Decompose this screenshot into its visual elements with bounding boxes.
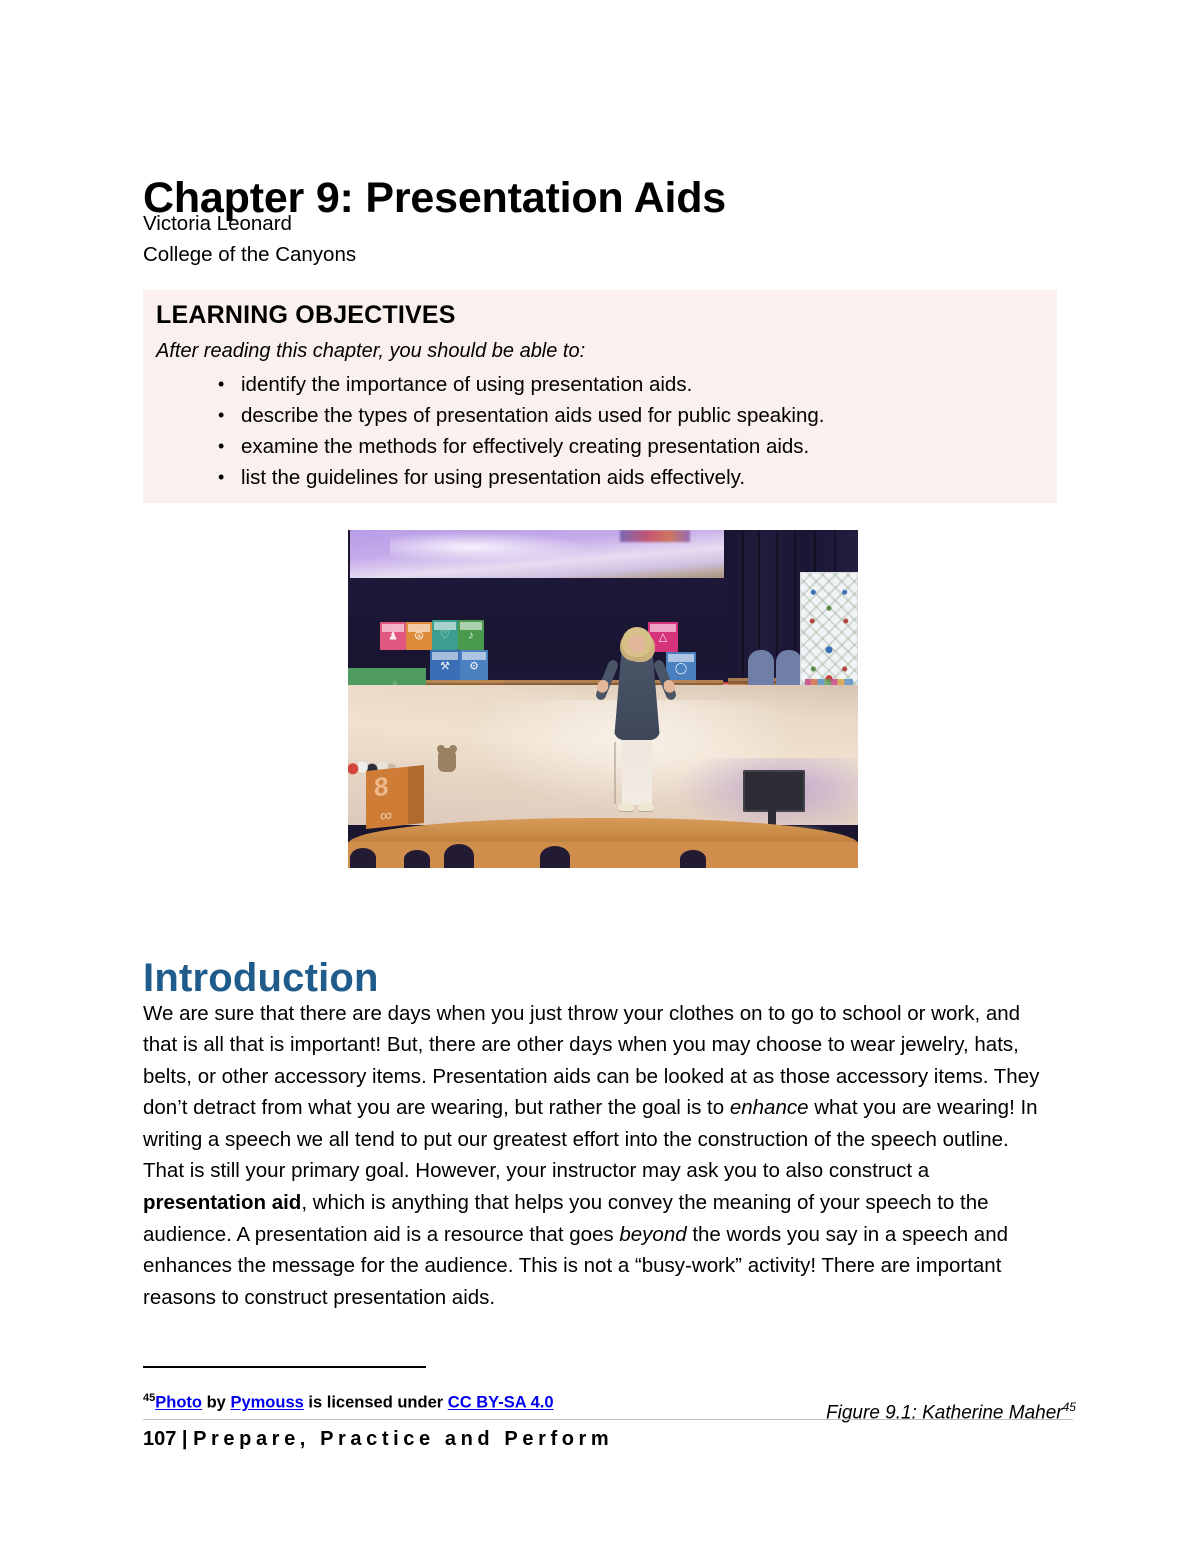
footnote-text-licensed: is licensed under [304, 1394, 448, 1412]
footnote-link-license[interactable]: CC BY-SA 4.0 [448, 1394, 554, 1412]
footer-separator [143, 1419, 1073, 1420]
list-item-label: identify the importance of using present… [241, 373, 692, 396]
bullet-icon: • [218, 400, 224, 431]
institution-name: College of the Canyons [143, 239, 356, 270]
bullet-icon: • [218, 462, 224, 493]
learning-objectives-list: • identify the importance of using prese… [156, 369, 824, 493]
figure-caption: Figure 9.1: Katherine Maher45 [696, 1400, 1200, 1424]
figure-caption-text: Figure 9.1: Katherine Maher [826, 1402, 1063, 1423]
figure-caption-superscript: 45 [1063, 1400, 1076, 1414]
sdg-cube-8: 8 ∞ [366, 765, 424, 829]
sdg-cube: ☮ [406, 622, 432, 650]
footnote-marker: 45 [143, 1392, 155, 1404]
sdg-cube: ♟ [380, 622, 406, 650]
audience-head [680, 850, 706, 868]
sdg-cube: ♪ [458, 620, 484, 650]
footer-book-title: Prepare, Practice and Perform [193, 1428, 613, 1450]
learning-objectives-box: LEARNING OBJECTIVES After reading this c… [143, 290, 1057, 503]
audience-head [350, 848, 376, 868]
figure-9-1: ♟ ☮ ♡ ♪ ⚒ ⚙ ⚆ ☀ ♂ △ ◯ ☸ ⚲ ☷ [348, 530, 858, 868]
introduction-paragraph: We are sure that there are days when you… [143, 998, 1048, 1314]
footer-separator-text: | [176, 1428, 193, 1450]
chair [776, 650, 802, 688]
footnote: 45Photo by Pymouss is licensed under CC … [143, 1387, 554, 1414]
learning-objectives-heading: LEARNING OBJECTIVES [156, 301, 456, 330]
stage-monitor [743, 770, 805, 812]
emphasis-italic: enhance [730, 1096, 809, 1119]
sdg-cube: ♡ [432, 620, 458, 650]
stage-presentation-photo: ♟ ☮ ♡ ♪ ⚒ ⚙ ⚆ ☀ ♂ △ ◯ ☸ ⚲ ☷ [348, 530, 858, 868]
speaker-figure [600, 627, 672, 827]
list-item: • examine the methods for effectively cr… [156, 431, 824, 462]
audience-head [404, 850, 430, 868]
sdg-cube: ⚙ [460, 650, 488, 682]
audience-head [444, 844, 474, 868]
list-item: • list the guidelines for using presenta… [156, 462, 824, 493]
footnote-link-author[interactable]: Pymouss [230, 1394, 303, 1412]
footnote-text-by: by [202, 1394, 230, 1412]
section-heading-introduction: Introduction [143, 954, 379, 1002]
audience-head [540, 846, 570, 868]
list-item-label: list the guidelines for using presentati… [241, 466, 745, 489]
emphasis-italic: beyond [619, 1223, 686, 1246]
list-item: • identify the importance of using prese… [156, 369, 824, 400]
list-item-label: examine the methods for effectively crea… [241, 435, 809, 458]
page-footer: 107 | Prepare, Practice and Perform [143, 1428, 613, 1451]
bullet-icon: • [218, 431, 224, 462]
chair [748, 650, 774, 688]
footnote-link-photo[interactable]: Photo [155, 1394, 202, 1412]
document-page: Chapter 9: Presentation Aids Victoria Le… [0, 0, 1200, 1553]
emphasis-bold: presentation aid [143, 1191, 301, 1214]
footnote-separator [143, 1366, 426, 1368]
sdg-cube: ⚒ [430, 650, 460, 682]
list-item-label: describe the types of presentation aids … [241, 404, 824, 427]
author-name: Victoria Leonard [143, 208, 292, 239]
page-number: 107 [143, 1428, 176, 1450]
teddy-bear [438, 748, 456, 772]
projection-screen [350, 530, 724, 578]
learning-objectives-intro: After reading this chapter, you should b… [156, 340, 585, 363]
list-item: • describe the types of presentation aid… [156, 400, 824, 431]
bullet-icon: • [218, 369, 224, 400]
